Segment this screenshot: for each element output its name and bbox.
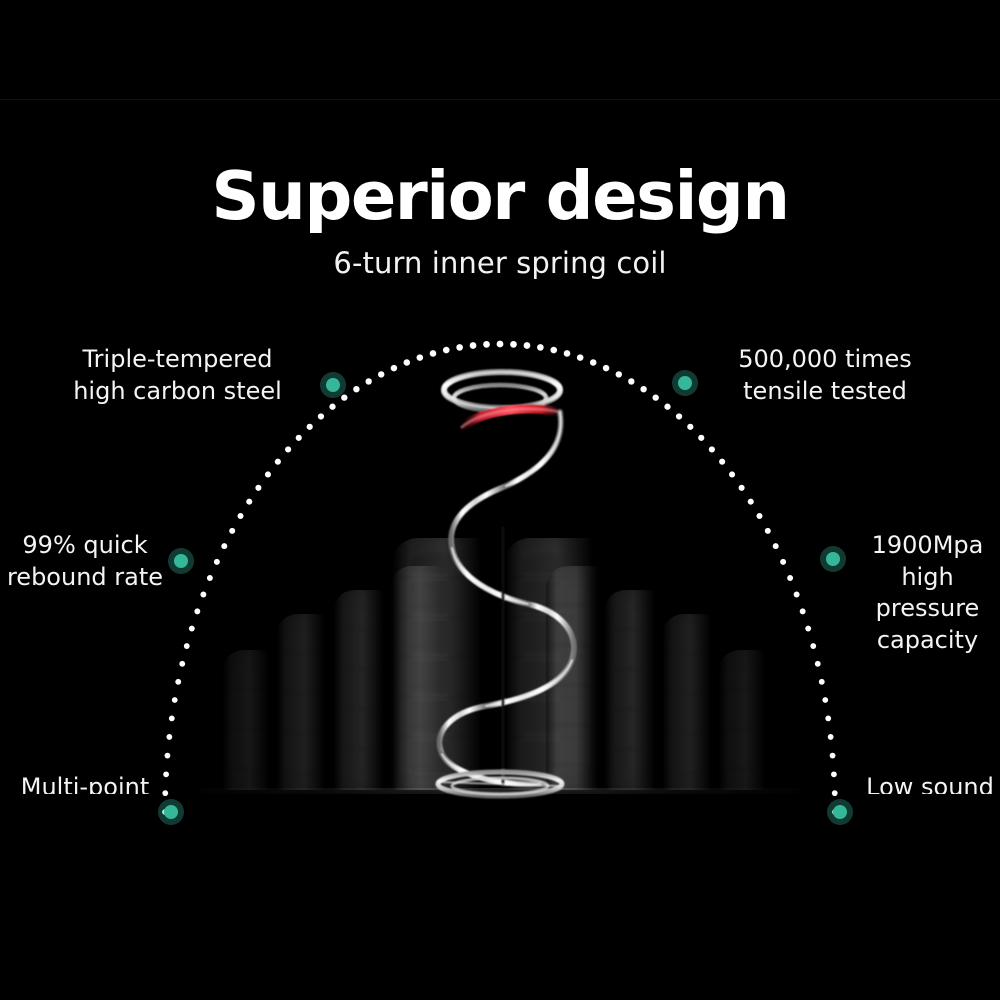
product-infographic: Superior design 6-turn inner spring coil… bbox=[0, 0, 1000, 1000]
pocket-spring-right-1 bbox=[546, 566, 612, 790]
pocket-spring-right-2 bbox=[604, 590, 668, 790]
pocket-spring-left-2 bbox=[333, 590, 397, 790]
pocket-spring-right-4 bbox=[718, 650, 778, 790]
product-floor-mask bbox=[0, 794, 1000, 1000]
pocket-spring-right-3 bbox=[662, 614, 724, 790]
pocket-spring-center-left bbox=[392, 538, 504, 790]
pocket-spring-left-3 bbox=[276, 614, 338, 790]
pocket-spring-left-4 bbox=[222, 650, 282, 790]
